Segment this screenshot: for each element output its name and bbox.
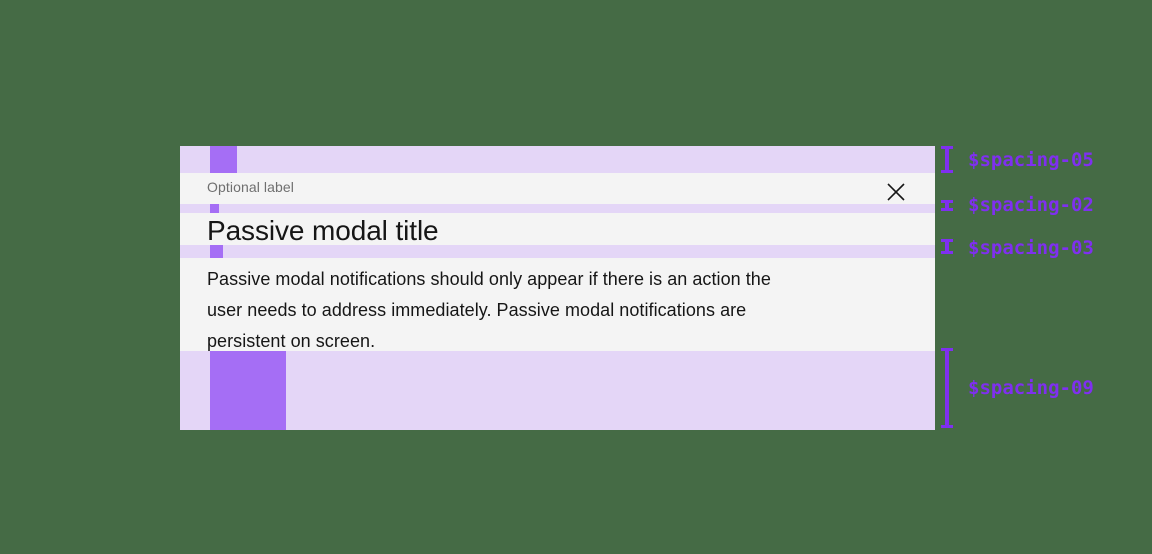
ibeam-icon	[940, 239, 954, 259]
close-icon	[885, 181, 907, 203]
spacing-band-label	[180, 204, 935, 213]
modal-optional-label: Optional label	[207, 178, 294, 196]
measure-label: $spacing-09	[968, 379, 1094, 398]
modal-body-text: Passive modal notifications should only …	[207, 264, 807, 357]
close-button[interactable]	[877, 173, 915, 211]
measure-label: $spacing-03	[968, 239, 1094, 258]
measure-label: $spacing-05	[968, 151, 1094, 170]
spacing-band-top	[180, 146, 935, 173]
ibeam-icon	[940, 348, 954, 433]
spacing-swatch-05	[210, 146, 237, 173]
ibeam-icon	[940, 198, 954, 216]
passive-modal: Optional label Passive modal title Passi…	[180, 146, 935, 430]
ibeam-icon	[940, 146, 954, 178]
modal-title: Passive modal title	[207, 215, 439, 247]
spacing-band-bottom	[180, 351, 935, 430]
spacing-swatch-09	[210, 351, 286, 430]
measure-label: $spacing-02	[968, 196, 1094, 215]
spacing-swatch-02	[210, 204, 219, 213]
